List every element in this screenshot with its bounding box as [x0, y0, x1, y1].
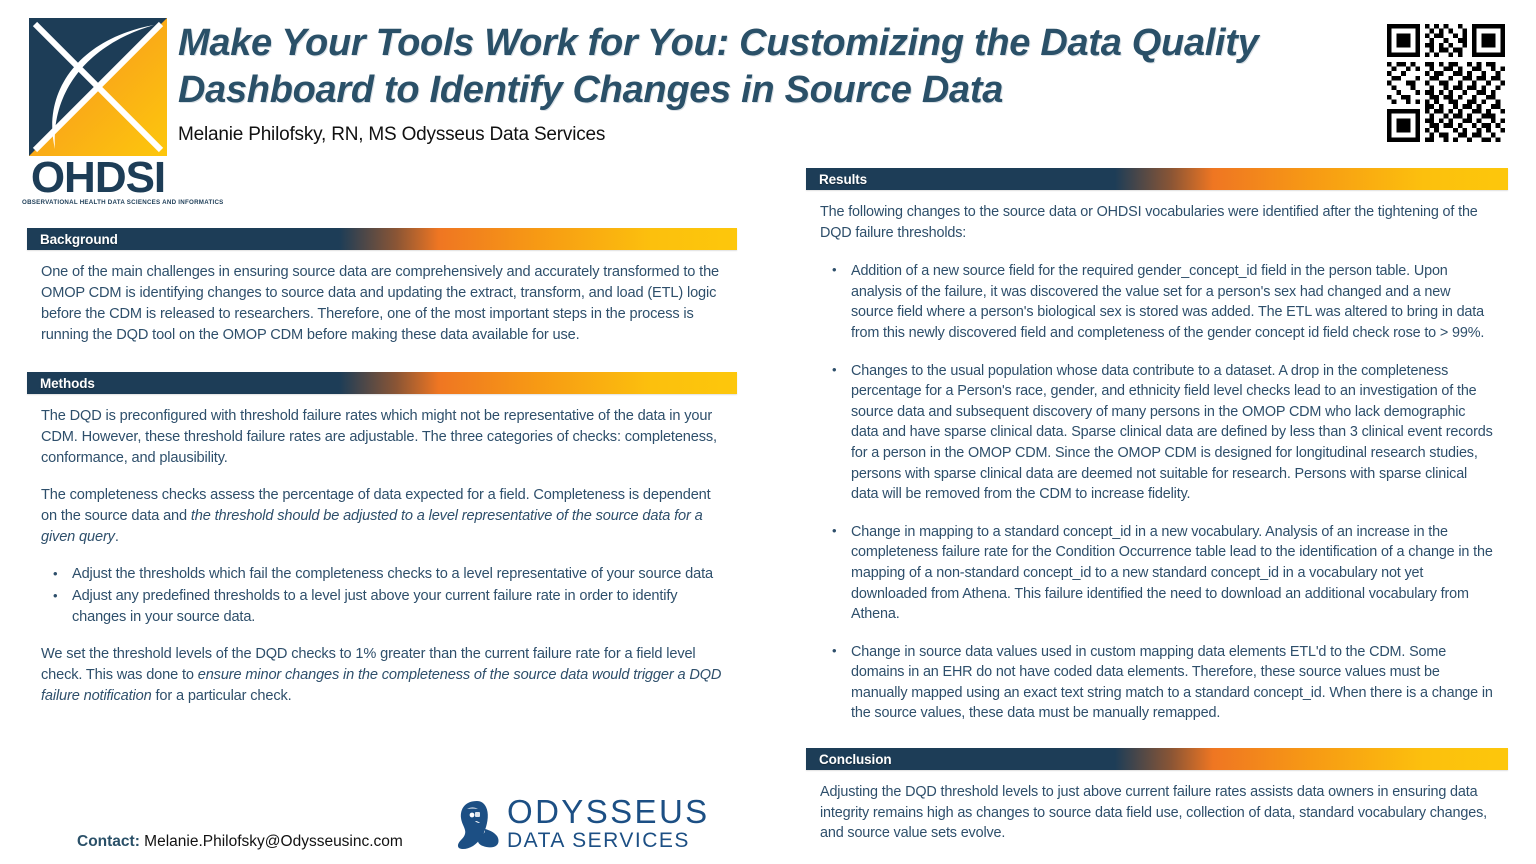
ohdsi-logo: OHDSI OBSERVATIONAL HEALTH DATA SCIENCES…: [22, 18, 174, 200]
list-item: Change in mapping to a standard concept_…: [820, 522, 1494, 625]
title-block: Make Your Tools Work for You: Customizin…: [178, 20, 1358, 146]
section-conclusion: Conclusion Adjusting the DQD threshold l…: [806, 748, 1508, 844]
section-header-background: Background: [27, 228, 737, 250]
section-body-methods: The DQD is preconfigured with threshold …: [27, 394, 737, 707]
right-column: Results The following changes to the sou…: [806, 168, 1508, 844]
section-body-background: One of the main challenges in ensuring s…: [27, 250, 737, 346]
section-title-conclusion: Conclusion: [819, 752, 892, 767]
section-background: Background One of the main challenges in…: [27, 228, 737, 346]
methods-paragraph-3: We set the threshold levels of the DQD c…: [41, 644, 723, 707]
list-item: Addition of a new source field for the r…: [820, 261, 1494, 343]
contact-line: Contact: Melanie.Philofsky@Odysseusinc.c…: [77, 833, 403, 851]
section-header-conclusion: Conclusion: [806, 748, 1508, 770]
list-item: Adjust any predefined thresholds to a le…: [41, 586, 723, 628]
methods-paragraph-1: The DQD is preconfigured with threshold …: [41, 406, 723, 469]
section-title-methods: Methods: [40, 376, 95, 391]
background-paragraph-1: One of the main challenges in ensuring s…: [41, 262, 723, 346]
odysseus-bearded-man-icon: [455, 799, 501, 851]
section-body-results: The following changes to the source data…: [806, 190, 1508, 724]
methods-bullet-list: Adjust the thresholds which fail the com…: [41, 564, 723, 628]
methods-paragraph-2: The completeness checks assess the perce…: [41, 485, 723, 548]
section-body-conclusion: Adjusting the DQD threshold levels to ju…: [806, 770, 1508, 844]
qr-code[interactable]: [1384, 24, 1508, 142]
list-item: Change in source data values used in cus…: [820, 642, 1494, 724]
poster-canvas: OHDSI OBSERVATIONAL HEALTH DATA SCIENCES…: [0, 0, 1536, 864]
page-title: Make Your Tools Work for You: Customizin…: [178, 20, 1358, 114]
author-line: Melanie Philofsky, RN, MS Odysseus Data …: [178, 124, 1358, 146]
odysseus-logo: ODYSSEUS DATA SERVICES: [455, 795, 683, 855]
section-methods: Methods The DQD is preconfigured with th…: [27, 372, 737, 707]
methods-p3-text-b: for a particular check.: [152, 688, 292, 704]
ohdsi-tagline: OBSERVATIONAL HEALTH DATA SCIENCES AND I…: [22, 199, 174, 206]
list-item: Changes to the usual population whose da…: [820, 361, 1494, 505]
section-header-methods: Methods: [27, 372, 737, 394]
methods-p2-text-b: .: [115, 529, 119, 545]
results-bullet-list: Addition of a new source field for the r…: [820, 261, 1494, 724]
odysseus-name: ODYSSEUS: [507, 795, 710, 829]
results-intro: The following changes to the source data…: [820, 202, 1494, 243]
qr-code-icon: [1384, 24, 1508, 142]
list-item: Adjust the thresholds which fail the com…: [41, 564, 723, 585]
left-column: Background One of the main challenges in…: [27, 228, 737, 707]
section-header-results: Results: [806, 168, 1508, 190]
section-results: Results The following changes to the sou…: [806, 168, 1508, 724]
contact-label: Contact:: [77, 833, 140, 850]
section-title-background: Background: [40, 232, 118, 247]
ohdsi-swoosh-icon: [29, 18, 167, 156]
ohdsi-logo-mark: [29, 18, 167, 156]
section-title-results: Results: [819, 172, 867, 187]
odysseus-subtitle: DATA SERVICES: [507, 829, 710, 852]
ohdsi-wordmark: OHDSI: [22, 158, 174, 198]
odysseus-wordmark: ODYSSEUS DATA SERVICES: [507, 795, 710, 852]
conclusion-paragraph-1: Adjusting the DQD threshold levels to ju…: [820, 782, 1494, 844]
contact-email[interactable]: Melanie.Philofsky@Odysseusinc.com: [144, 833, 403, 850]
